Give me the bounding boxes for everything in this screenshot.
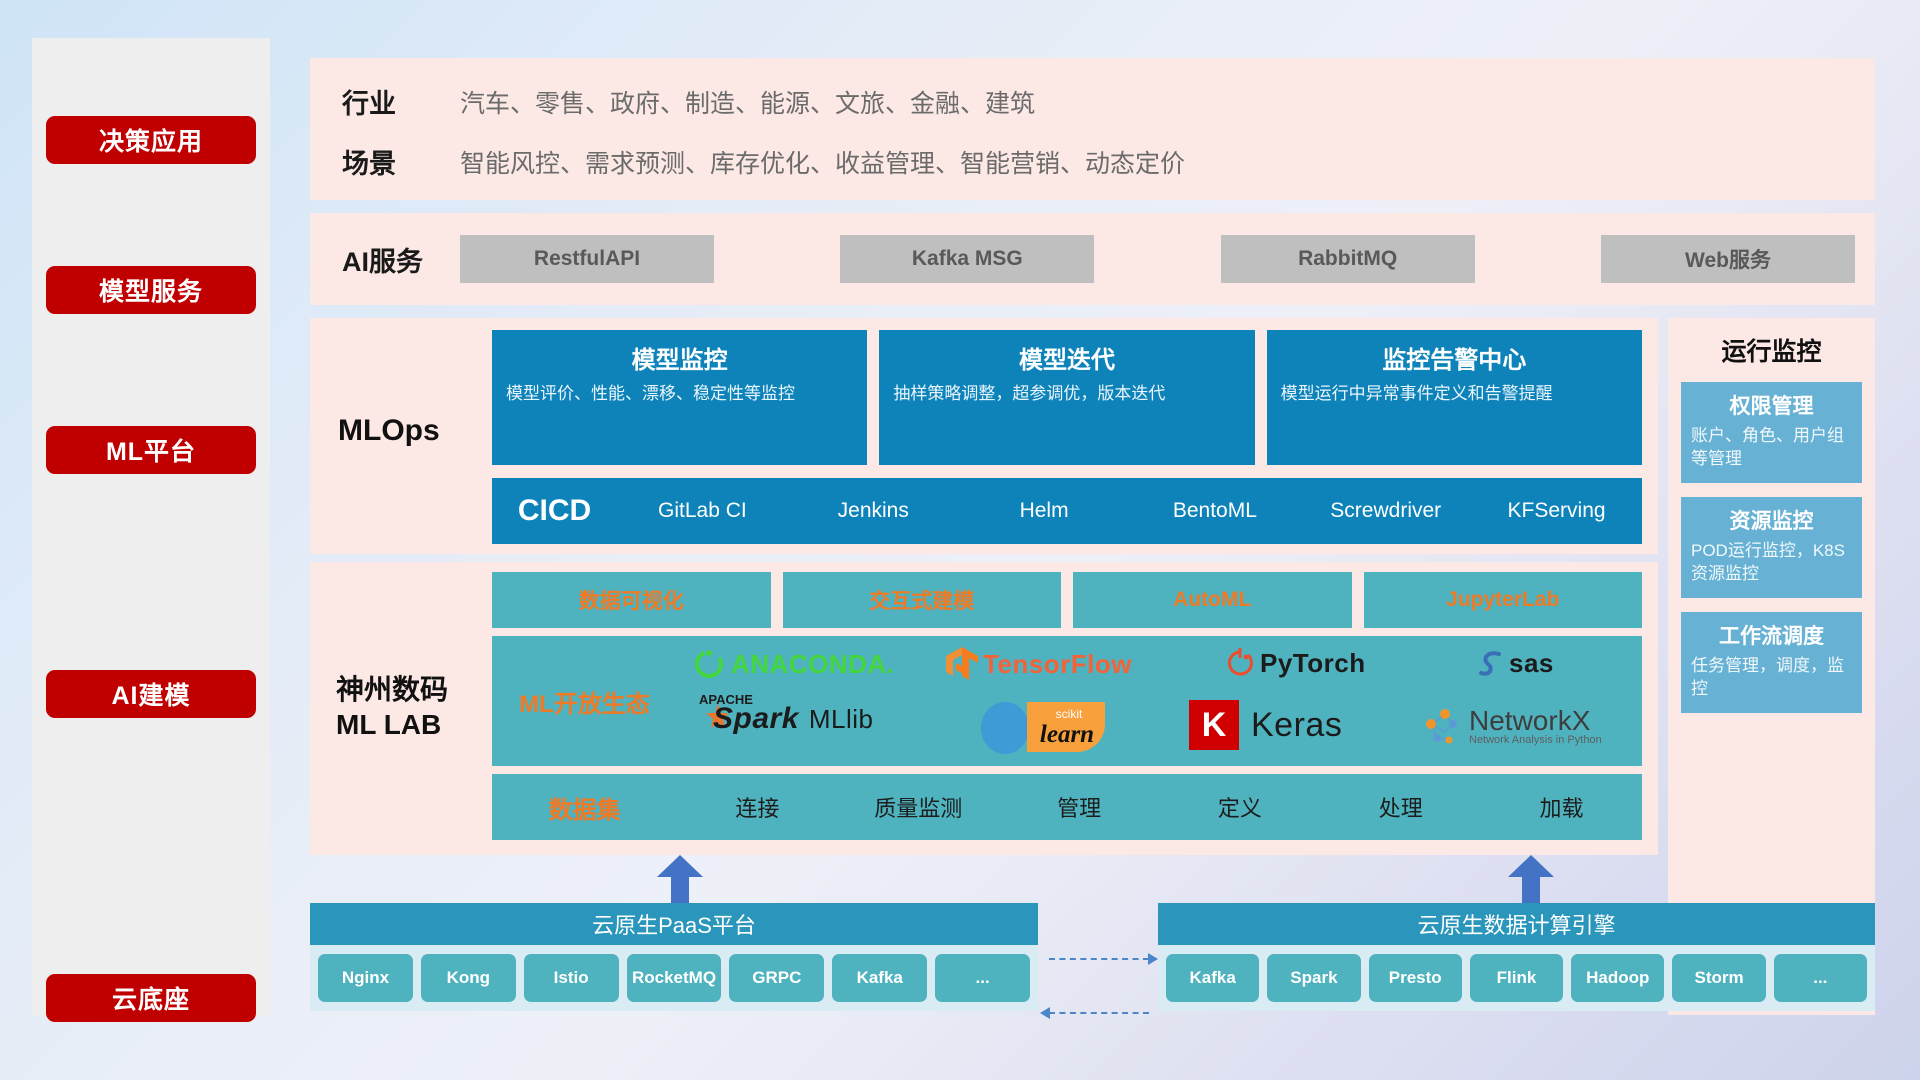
anaconda-wordmark: ANACONDA. (731, 649, 894, 680)
networkx-icon (1419, 702, 1465, 748)
mlops-card-desc: 模型运行中异常事件定义和告警提醒 (1281, 383, 1628, 406)
keras-mark: K (1189, 700, 1239, 750)
dashed-connector-bottom (1049, 1012, 1149, 1014)
up-arrow-data-engine (1508, 855, 1554, 903)
scikit-text: scikit (1056, 707, 1083, 721)
paas-chip-rocketmq[interactable]: RocketMQ (627, 954, 722, 1002)
anaconda-logo: ANACONDA. (693, 648, 894, 680)
data-engine-chip-flink[interactable]: Flink (1470, 954, 1563, 1002)
paas-chip-grpc[interactable]: GRPC (729, 954, 824, 1002)
data-engine-chip-list: Kafka Spark Presto Flink Hadoop Storm ..… (1158, 945, 1875, 1011)
learn-text: learn (1040, 721, 1094, 748)
industry-row: 行业 汽车、零售、政府、制造、能源、文旅、金融、建筑 (310, 82, 1035, 121)
industry-label: 行业 (310, 82, 460, 121)
dashed-arrow-left-icon (1040, 1007, 1050, 1019)
left-rail: 决策应用 模型服务 ML平台 AI建模 云底座 (32, 38, 270, 1016)
sas-wordmark: sas (1509, 648, 1554, 679)
apache-label: APACHE (699, 692, 753, 707)
ml-ecosystem-row: ML开放生态 ANACONDA. (492, 636, 1642, 766)
keras-k-letter: K (1202, 706, 1227, 745)
ai-service-box[interactable]: RabbitMQ (1221, 235, 1475, 283)
anaconda-icon (693, 648, 725, 680)
dataset-row: 数据集 连接 质量监测 管理 定义 处理 加载 (492, 774, 1642, 840)
networkx-logo: NetworkX Network Analysis in Python (1419, 702, 1602, 748)
paas-chip-nginx[interactable]: Nginx (318, 954, 413, 1002)
ml-lab-label-line2: ML LAB (336, 707, 448, 742)
monitor-card-desc: 任务管理，调度，监控 (1691, 654, 1852, 701)
mlops-card-alert-center[interactable]: 监控告警中心 模型运行中异常事件定义和告警提醒 (1267, 330, 1642, 465)
mllib-wordmark: MLlib (809, 704, 874, 735)
dashed-arrow-right-icon (1148, 953, 1158, 965)
data-engine-chip-presto[interactable]: Presto (1369, 954, 1462, 1002)
rail-item-decision-app[interactable]: 决策应用 (46, 116, 256, 164)
dataset-item-process[interactable]: 处理 (1320, 791, 1481, 823)
rail-item-model-service[interactable]: 模型服务 (46, 266, 256, 314)
rail-item-cloud-base[interactable]: 云底座 (46, 974, 256, 1022)
dataset-item-quality-monitor[interactable]: 质量监测 (838, 791, 999, 823)
tool-automl[interactable]: AutoML (1073, 572, 1352, 628)
mlops-card-title: 模型监控 (506, 340, 853, 375)
data-engine-chip-spark[interactable]: Spark (1267, 954, 1360, 1002)
data-engine-chip-storm[interactable]: Storm (1672, 954, 1765, 1002)
cicd-item-jenkins[interactable]: Jenkins (788, 499, 959, 523)
monitor-card-permission[interactable]: 权限管理 账户、角色、用户组等管理 (1681, 382, 1862, 483)
monitor-card-title: 工作流调度 (1691, 620, 1852, 650)
runtime-monitor-title: 运行监控 (1668, 318, 1875, 368)
cicd-item-gitlab-ci[interactable]: GitLab CI (617, 499, 788, 523)
cicd-item-kfserving[interactable]: KFServing (1471, 499, 1642, 523)
tool-jupyterlab[interactable]: JupyterLab (1364, 572, 1643, 628)
ml-lab-band: 神州数码 ML LAB 数据可视化 交互式建模 AutoML JupyterLa… (310, 562, 1658, 855)
cicd-item-screwdriver[interactable]: Screwdriver (1300, 499, 1471, 523)
ml-ecosystem-logo-area: ANACONDA. TensorFlow (677, 636, 1642, 766)
paas-chip-kafka[interactable]: Kafka (832, 954, 927, 1002)
mlops-card-title: 监控告警中心 (1281, 340, 1628, 375)
mlops-label: MLOps (338, 414, 440, 448)
data-engine-title: 云原生数据计算引擎 (1158, 903, 1875, 945)
networkx-subtitle: Network Analysis in Python (1469, 734, 1602, 746)
rail-item-label: ML平台 (106, 432, 196, 468)
ml-ecosystem-label: ML开放生态 (492, 684, 677, 719)
scenario-label: 场景 (310, 142, 460, 181)
ml-lab-tool-list: 数据可视化 交互式建模 AutoML JupyterLab (492, 572, 1642, 628)
spark-mllib-logo: APACHE Spark MLlib (693, 702, 874, 736)
pytorch-logo: PyTorch (1225, 646, 1366, 680)
ai-service-box[interactable]: RestfulAPI (460, 235, 714, 283)
keras-logo: K Keras (1189, 700, 1342, 750)
mlops-card-list: 模型监控 模型评价、性能、漂移、稳定性等监控 模型迭代 抽样策略调整，超参调优，… (492, 330, 1642, 465)
tool-interactive-modeling[interactable]: 交互式建模 (783, 572, 1062, 628)
cloud-base-data-engine: 云原生数据计算引擎 Kafka Spark Presto Flink Hadoo… (1158, 903, 1875, 1011)
tensorflow-wordmark: TensorFlow (983, 649, 1132, 680)
sas-icon (1477, 649, 1507, 679)
sas-logo: sas (1477, 648, 1554, 679)
cicd-row: CICD GitLab CI Jenkins Helm BentoML Scre… (492, 478, 1642, 544)
architecture-diagram: 决策应用 模型服务 ML平台 AI建模 云底座 行业 汽车、零售、政府、制造、能… (0, 0, 1920, 1080)
monitor-card-title: 权限管理 (1691, 390, 1852, 420)
data-engine-chip-hadoop[interactable]: Hadoop (1571, 954, 1664, 1002)
mlops-card-desc: 模型评价、性能、漂移、稳定性等监控 (506, 383, 853, 406)
keras-wordmark: Keras (1251, 706, 1342, 745)
ai-service-band: AI服务 RestfulAPI Kafka MSG RabbitMQ Web服务 (310, 213, 1875, 305)
mlops-card-model-iteration[interactable]: 模型迭代 抽样策略调整，超参调优，版本迭代 (879, 330, 1254, 465)
monitor-card-desc: POD运行监控，K8S资源监控 (1691, 539, 1852, 586)
tensorflow-icon (945, 646, 979, 682)
industry-value: 汽车、零售、政府、制造、能源、文旅、金融、建筑 (460, 84, 1035, 120)
mlops-card-model-monitoring[interactable]: 模型监控 模型评价、性能、漂移、稳定性等监控 (492, 330, 867, 465)
cloud-base-paas: 云原生PaaS平台 Nginx Kong Istio RocketMQ GRPC… (310, 903, 1038, 1011)
ai-service-label: AI服务 (310, 240, 460, 279)
tool-data-visualization[interactable]: 数据可视化 (492, 572, 771, 628)
paas-chip-istio[interactable]: Istio (524, 954, 619, 1002)
paas-title: 云原生PaaS平台 (310, 903, 1038, 945)
rail-item-ml-platform[interactable]: ML平台 (46, 426, 256, 474)
data-engine-chip-kafka[interactable]: Kafka (1166, 954, 1259, 1002)
monitor-card-desc: 账户、角色、用户组等管理 (1691, 424, 1852, 471)
ai-service-box[interactable]: Web服务 (1601, 235, 1855, 283)
networkx-wordmark: NetworkX (1469, 705, 1602, 737)
spark-wordmark: Spark (713, 702, 799, 736)
rail-item-label: AI建模 (111, 676, 190, 712)
scenario-value: 智能风控、需求预测、库存优化、收益管理、智能营销、动态定价 (460, 144, 1185, 180)
pytorch-icon (1225, 646, 1255, 680)
dataset-item-define[interactable]: 定义 (1159, 791, 1320, 823)
rail-item-label: 云底座 (112, 980, 190, 1016)
mlops-band: MLOps 模型监控 模型评价、性能、漂移、稳定性等监控 模型迭代 抽样策略调整… (310, 318, 1658, 554)
paas-chip-kong[interactable]: Kong (421, 954, 516, 1002)
scikit-learn-icon: scikit learn (977, 698, 1117, 754)
rail-item-ai-modeling[interactable]: AI建模 (46, 670, 256, 718)
monitor-card-title: 资源监控 (1691, 505, 1852, 535)
cicd-item-helm[interactable]: Helm (959, 499, 1130, 523)
dashed-connector-top (1049, 958, 1149, 960)
scenario-row: 场景 智能风控、需求预测、库存优化、收益管理、智能营销、动态定价 (310, 142, 1185, 181)
dataset-item-load[interactable]: 加载 (1481, 791, 1642, 823)
scikit-learn-logo: scikit learn (977, 698, 1117, 754)
monitor-card-workflow[interactable]: 工作流调度 任务管理，调度，监控 (1681, 612, 1862, 713)
mlops-card-desc: 抽样策略调整，超参调优，版本迭代 (893, 383, 1240, 406)
mlops-card-title: 模型迭代 (893, 340, 1240, 375)
up-arrow-paas (657, 855, 703, 903)
cicd-item-bentoml[interactable]: BentoML (1129, 499, 1300, 523)
pytorch-wordmark: PyTorch (1260, 648, 1366, 679)
ai-service-box-list: RestfulAPI Kafka MSG RabbitMQ Web服务 (460, 235, 1875, 283)
ml-lab-label: 神州数码 ML LAB (336, 672, 448, 742)
rail-item-label: 模型服务 (99, 272, 203, 308)
ml-lab-label-line1: 神州数码 (336, 672, 448, 707)
paas-chip-more[interactable]: ... (935, 954, 1030, 1002)
data-engine-chip-more[interactable]: ... (1774, 954, 1867, 1002)
ai-service-box[interactable]: Kafka MSG (840, 235, 1094, 283)
application-layer-band: 行业 汽车、零售、政府、制造、能源、文旅、金融、建筑 场景 智能风控、需求预测、… (310, 58, 1875, 200)
dataset-item-connect[interactable]: 连接 (677, 791, 838, 823)
dataset-title: 数据集 (492, 790, 677, 825)
dataset-item-manage[interactable]: 管理 (999, 791, 1160, 823)
rail-item-label: 决策应用 (99, 122, 203, 158)
tensorflow-logo: TensorFlow (945, 646, 1132, 682)
monitor-card-resource[interactable]: 资源监控 POD运行监控，K8S资源监控 (1681, 497, 1862, 598)
cicd-title: CICD (492, 494, 617, 528)
paas-chip-list: Nginx Kong Istio RocketMQ GRPC Kafka ... (310, 945, 1038, 1011)
